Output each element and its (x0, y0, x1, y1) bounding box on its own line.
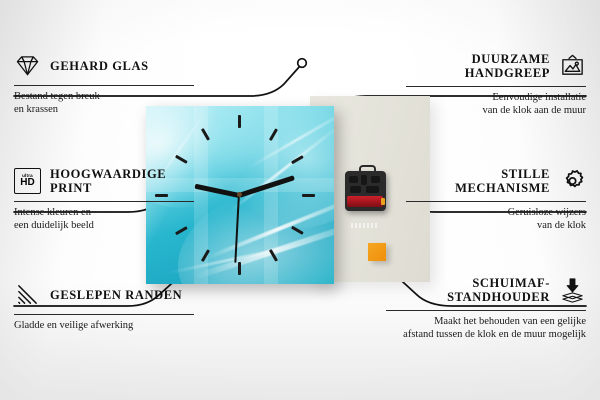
mechanism-detail-4 (350, 186, 361, 193)
feature-gehard-glas: GEHARD GLAS Bestand tegen breuk en krass… (14, 52, 194, 116)
feature-divider (14, 201, 194, 202)
feature-title: HOOGWAARDIGE PRINT (50, 167, 194, 195)
battery-positive-tip (381, 198, 385, 205)
ground-edges-icon (14, 281, 41, 308)
feature-geslepen-randen: GESLEPEN RANDEN Gladde en veilige afwerk… (14, 281, 194, 333)
gear-icon (559, 168, 586, 195)
clock-mechanism (345, 171, 386, 211)
ultra-hd-icon: ultra HD (14, 168, 41, 195)
feature-description: Eenvoudige installatie van de klok aan d… (406, 92, 586, 117)
feature-description: Gladde en veilige afwerking (14, 320, 194, 333)
mechanism-detail-1 (349, 176, 358, 183)
feature-divider (406, 86, 586, 87)
foam-spacer-icon (559, 277, 586, 304)
feature-divider (14, 85, 194, 86)
feature-title: SCHUIMAF-STANDHOUDER (386, 276, 550, 304)
feature-title: STILLE MECHANISME (406, 167, 550, 195)
mechanism-detail-3 (371, 176, 380, 183)
feature-description: Bestand tegen breuk en krassen (14, 91, 194, 116)
ultra-hd-icon-large-label: HD (20, 178, 34, 188)
mechanism-hanger-tab (359, 165, 376, 175)
feature-stille-mechanisme: STILLE MECHANISME Geruisloze wijzers van… (406, 167, 586, 232)
picture-hanger-icon (559, 53, 586, 80)
feature-divider (406, 201, 586, 202)
feature-title: GESLEPEN RANDEN (50, 288, 182, 302)
feature-title: DUURZAME HANDGREEP (406, 52, 550, 80)
feature-divider (14, 314, 194, 315)
feature-divider (386, 310, 586, 311)
diamond-icon (14, 52, 41, 79)
foam-spacer-pad (368, 243, 386, 261)
mechanism-battery (347, 196, 383, 207)
mechanism-detail-5 (366, 186, 379, 193)
infographic-canvas: GEHARD GLAS Bestand tegen breuk en krass… (0, 0, 600, 400)
clock-hand-hub (237, 192, 242, 197)
feature-description: Intense kleuren en een duidelijk beeld (14, 207, 194, 232)
feature-schuimafstandhouder: SCHUIMAF-STANDHOUDER Maakt het behouden … (386, 276, 586, 341)
feature-description: Geruisloze wijzers van de klok (406, 207, 586, 232)
battery-label (351, 223, 379, 228)
mechanism-detail-2 (361, 175, 367, 185)
feature-hoogwaardige-print: ultra HD HOOGWAARDIGE PRINT Intense kleu… (14, 167, 194, 232)
feature-title: GEHARD GLAS (50, 59, 149, 73)
feature-description: Maakt het behouden van een gelijke afsta… (386, 316, 586, 341)
feature-duurzame-handgreep: DUURZAME HANDGREEP Eenvoudige installati… (406, 52, 586, 117)
